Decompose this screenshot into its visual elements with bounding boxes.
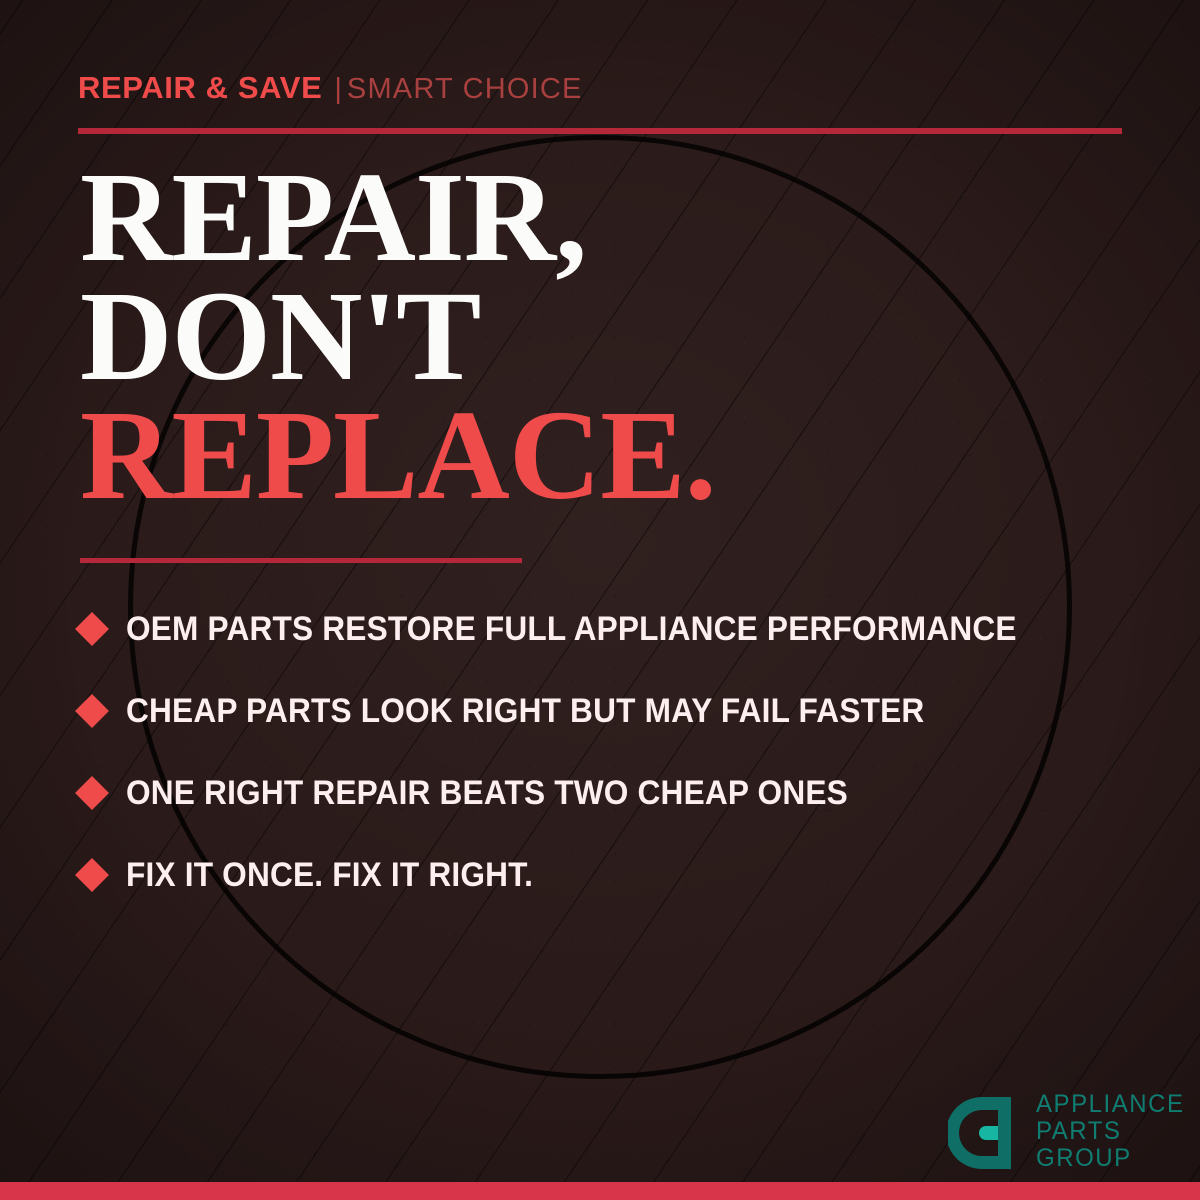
bullet-text: CHEAP PARTS LOOK RIGHT BUT MAY FAIL FAST…: [126, 692, 924, 731]
diamond-bullet-icon: [75, 612, 109, 646]
headline-line-3: REPLACE.: [80, 396, 716, 515]
bullet-list: OEM PARTS RESTORE FULL APPLIANCE PERFORM…: [80, 588, 1140, 916]
logo-word-group: GROUP: [1036, 1146, 1185, 1171]
logo-word-parts: PARTS: [1036, 1119, 1185, 1144]
diamond-bullet-icon: [75, 694, 109, 728]
brand-logo: APPLIANCE PARTS GROUP: [948, 1092, 1191, 1173]
logo-word-appliance: APPLIANCE: [1036, 1092, 1185, 1117]
diamond-bullet-icon: [75, 858, 109, 892]
headline-divider-rule: [80, 558, 522, 563]
eyebrow: REPAIR & SAVE|SMART CHOICE: [78, 72, 583, 104]
g-letter-logo-icon: [948, 1095, 1022, 1171]
eyebrow-separator: |: [334, 73, 342, 105]
eyebrow-sub-text: SMART CHOICE: [347, 73, 583, 105]
logo-wordmark: APPLIANCE PARTS GROUP: [1036, 1092, 1191, 1173]
list-item: CHEAP PARTS LOOK RIGHT BUT MAY FAIL FAST…: [80, 670, 1140, 752]
headline: REPAIR, DON'T REPLACE.: [80, 158, 716, 515]
bottom-accent-bar: [0, 1182, 1200, 1200]
header-divider-rule: [78, 128, 1122, 134]
headline-line-1: REPAIR,: [80, 158, 716, 277]
bullet-text: FIX IT ONCE. FIX IT RIGHT.: [126, 856, 533, 895]
poster-canvas: REPAIR & SAVE|SMART CHOICE REPAIR, DON'T…: [0, 0, 1200, 1200]
list-item: OEM PARTS RESTORE FULL APPLIANCE PERFORM…: [80, 588, 1140, 670]
list-item: FIX IT ONCE. FIX IT RIGHT.: [80, 834, 1140, 916]
headline-line-2: DON'T: [80, 277, 716, 396]
poster-content: REPAIR & SAVE|SMART CHOICE REPAIR, DON'T…: [0, 0, 1200, 1200]
bullet-text: OEM PARTS RESTORE FULL APPLIANCE PERFORM…: [126, 610, 1017, 649]
eyebrow-main-text: REPAIR & SAVE: [78, 70, 322, 105]
list-item: ONE RIGHT REPAIR BEATS TWO CHEAP ONES: [80, 752, 1140, 834]
bullet-text: ONE RIGHT REPAIR BEATS TWO CHEAP ONES: [126, 774, 848, 813]
diamond-bullet-icon: [75, 776, 109, 810]
